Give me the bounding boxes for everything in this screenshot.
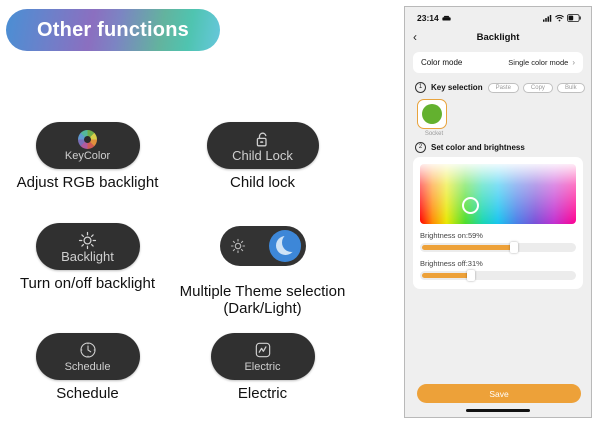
brightness-on-label: Brightness on:59%	[420, 231, 576, 240]
cellular-signal-icon	[543, 14, 552, 22]
function-item-backlight[interactable]: Backlight Turn on/off backlight	[0, 223, 175, 292]
step-number-2: 2	[415, 142, 426, 153]
function-item-electric[interactable]: Electric Electric	[175, 333, 350, 402]
key-tile-wrapper[interactable]: Socket	[417, 99, 451, 137]
page-title-banner: Other functions	[6, 9, 220, 51]
status-bar: 23:14	[405, 7, 591, 27]
step-number-1: 1	[415, 82, 426, 93]
electric-pill-label: Electric	[244, 361, 280, 373]
bulk-button[interactable]: Bulk	[557, 83, 585, 93]
color-picker-gradient[interactable]	[420, 164, 576, 224]
color-mode-value: Single color mode	[508, 58, 568, 67]
keycolor-pill-label: KeyColor	[65, 150, 110, 162]
child-lock-pill[interactable]: Child Lock	[207, 122, 319, 169]
status-bar-left: 23:14	[417, 13, 451, 23]
vehicle-icon	[442, 15, 451, 22]
chart-line-square-icon	[254, 341, 272, 359]
function-item-theme[interactable]: Multiple Theme selection (Dark/Light)	[175, 223, 350, 317]
status-bar-right	[543, 14, 581, 22]
keycolor-icon-wrap	[78, 130, 97, 149]
brightness-off-label: Brightness off:31%	[420, 259, 576, 268]
wifi-icon	[555, 14, 564, 22]
key-selection-actions: Paste Copy Bulk	[488, 83, 585, 93]
page-title: Other functions	[37, 19, 189, 42]
electric-icon-wrap	[254, 341, 272, 360]
color-brightness-card: Brightness on:59% Brightness off:31%	[413, 157, 583, 289]
nav-bar: ‹ Backlight	[405, 27, 591, 47]
electric-caption: Electric	[175, 385, 350, 402]
color-picker-handle[interactable]	[462, 197, 479, 214]
brightness-off-slider[interactable]	[420, 271, 576, 280]
left-illustration-panel: Other functions KeyColor Adjust RGB back…	[0, 0, 392, 429]
schedule-icon-wrap	[79, 341, 97, 360]
brightness-off-knob[interactable]	[467, 270, 475, 281]
function-item-child-lock[interactable]: Child Lock Child lock	[175, 122, 350, 191]
schedule-caption: Schedule	[0, 385, 175, 402]
save-button[interactable]: Save	[417, 384, 581, 403]
key-selection-title: Key selection	[431, 83, 483, 92]
brightness-on-slider[interactable]	[420, 243, 576, 252]
sun-brightness-icon	[78, 231, 97, 250]
set-color-title: Set color and brightness	[431, 143, 525, 152]
moon-icon	[269, 230, 301, 262]
copy-button[interactable]: Copy	[523, 83, 553, 93]
socket-color-dot	[422, 104, 442, 124]
color-mode-label: Color mode	[421, 58, 462, 67]
schedule-pill-label: Schedule	[65, 361, 111, 373]
socket-key-tile[interactable]	[417, 99, 447, 129]
clock-icon	[79, 341, 97, 359]
socket-key-label: Socket	[417, 131, 451, 137]
child-lock-caption: Child lock	[175, 174, 350, 191]
set-color-header: 2 Set color and brightness	[415, 142, 581, 153]
open-padlock-icon	[254, 130, 271, 149]
chevron-right-icon: ›	[572, 58, 575, 67]
aperture-color-wheel-icon	[78, 130, 97, 149]
brightness-on-fill	[422, 245, 514, 250]
theme-caption: Multiple Theme selection (Dark/Light)	[175, 283, 350, 317]
theme-toggle-switch[interactable]	[220, 226, 306, 266]
keycolor-pill[interactable]: KeyColor	[36, 122, 140, 169]
electric-pill[interactable]: Electric	[211, 333, 315, 380]
backlight-icon-wrap	[78, 231, 97, 250]
backlight-pill[interactable]: Backlight	[36, 223, 140, 270]
battery-icon	[567, 14, 581, 22]
color-mode-value-wrap[interactable]: Single color mode ›	[508, 58, 575, 67]
sun-icon	[230, 238, 246, 254]
phone-mockup: 23:14 ‹	[404, 6, 592, 418]
paste-button[interactable]: Paste	[488, 83, 519, 93]
backlight-pill-label: Backlight	[61, 251, 114, 263]
brightness-on-knob[interactable]	[510, 242, 518, 253]
nav-title: Backlight	[405, 32, 591, 43]
key-selection-header: 1 Key selection Paste Copy Bulk	[415, 82, 581, 93]
keycolor-caption: Adjust RGB backlight	[0, 174, 175, 191]
function-item-keycolor[interactable]: KeyColor Adjust RGB backlight	[0, 122, 175, 191]
function-item-schedule[interactable]: Schedule Schedule	[0, 333, 175, 402]
color-mode-row[interactable]: Color mode Single color mode ›	[413, 52, 583, 73]
status-time: 23:14	[417, 13, 439, 23]
brightness-off-fill	[422, 273, 470, 278]
chevron-left-icon[interactable]: ‹	[413, 31, 417, 43]
backlight-caption: Turn on/off backlight	[0, 275, 175, 292]
theme-pill[interactable]	[211, 223, 315, 270]
child-lock-pill-label: Child Lock	[232, 150, 293, 162]
child-lock-icon-wrap	[254, 130, 271, 149]
home-indicator	[466, 409, 530, 412]
schedule-pill[interactable]: Schedule	[36, 333, 140, 380]
